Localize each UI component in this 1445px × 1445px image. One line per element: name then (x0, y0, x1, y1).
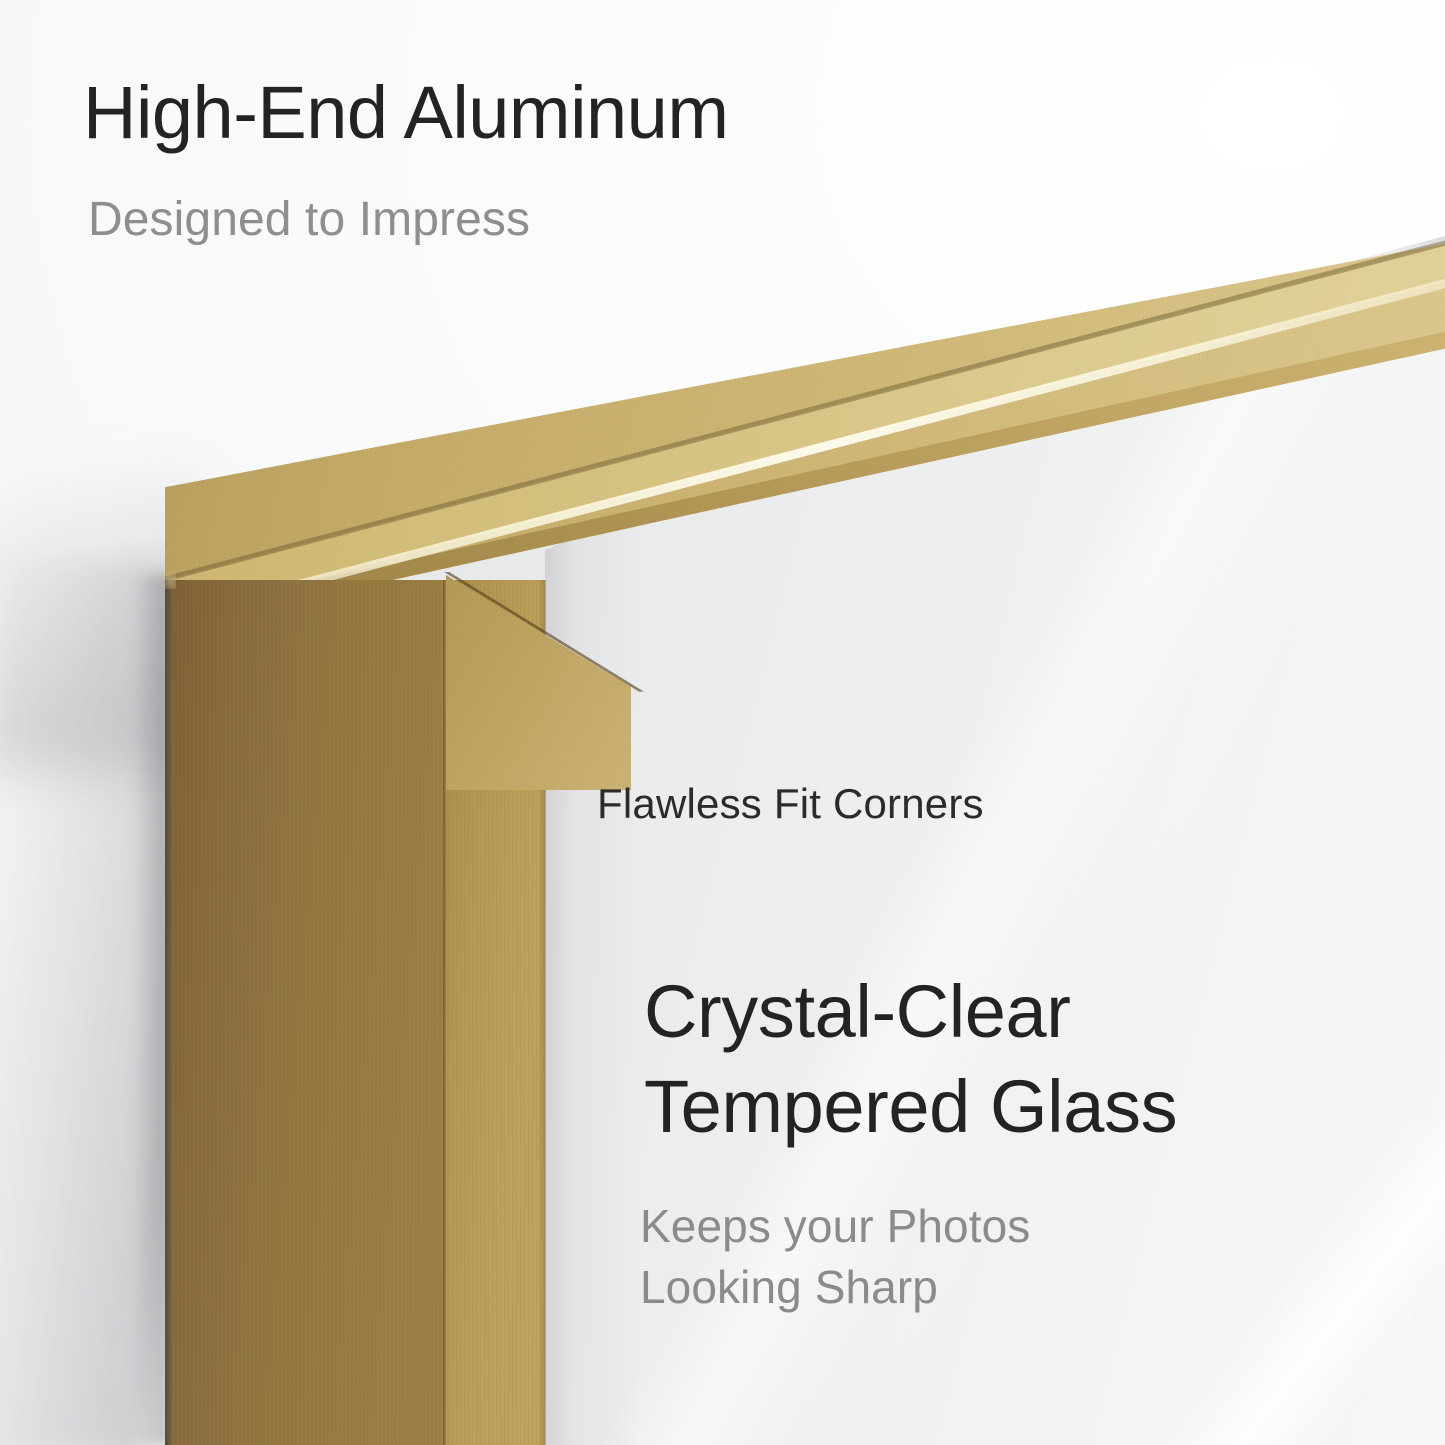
feature-subtitle-line-1: Keeps your Photos (640, 1196, 1030, 1257)
feature-subtitle-line-2: Looking Sharp (640, 1257, 1030, 1318)
feature-title-line-2: Tempered Glass (644, 1060, 1177, 1155)
feature-title: Crystal-Clear Tempered Glass (644, 965, 1177, 1154)
feature-title-line-1: Crystal-Clear (644, 965, 1177, 1060)
frame-left-stile-outer-face (165, 580, 446, 1445)
page-subtitle: Designed to Impress (88, 196, 530, 244)
page-title: High-End Aluminum (83, 76, 728, 150)
product-feature-infographic: High-End Aluminum Designed to Impress Fl… (0, 0, 1445, 1445)
feature-subtitle: Keeps your Photos Looking Sharp (640, 1196, 1030, 1317)
corner-callout-label: Flawless Fit Corners (597, 783, 984, 825)
